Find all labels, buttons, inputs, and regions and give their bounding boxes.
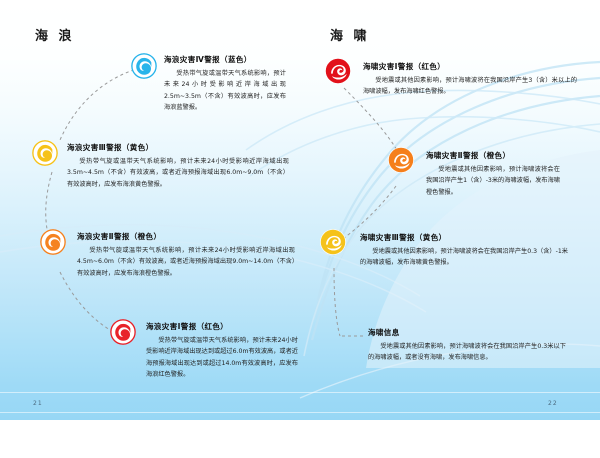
- page-bottom-margin: [0, 420, 600, 458]
- footer-rule-top: [0, 392, 600, 393]
- warning-description: 受热带气旋或温带天气系统影响，预计未来24小时受影响近岸海域出现3.5m~4.5…: [67, 156, 289, 190]
- tsunami-wave-icon-orange: [388, 147, 414, 173]
- section-heading-tsunami: 海 啸: [330, 25, 370, 44]
- warning-title: 海浪灾害Ⅳ警报（蓝色）: [164, 54, 286, 65]
- warning-title: 海啸灾害Ⅱ警报（橙色）: [426, 150, 560, 161]
- wave-spiral-icon-blue: [131, 53, 157, 79]
- warning-description: 受地震或其他因素影响，预计海啸波将会在我国沿岸产生0.3（含）-1米的海啸波幅，…: [360, 246, 568, 269]
- tsunami-wave-icon-yellow: [320, 229, 346, 255]
- warning-title: 海啸灾害Ⅲ警报（黄色）: [360, 232, 568, 243]
- warning-description: 受热带气旋或温带天气系统影响，预计未来24小时受影响近岸海域出现达到或超过6.0…: [146, 335, 298, 381]
- warning-title: 海浪灾害Ⅱ警报（橙色）: [77, 231, 295, 242]
- footer-rule-bottom: [0, 412, 600, 413]
- warning-description: 受地震或其他因素影响，预计海啸波将在我国沿岸产生3（含）米以上的海啸波幅，发布海…: [363, 75, 577, 98]
- section-heading-wave: 海 浪: [35, 25, 75, 44]
- page-number-right: 22: [548, 400, 558, 407]
- warning-title: 海浪灾害Ⅲ警报（黄色）: [67, 142, 289, 153]
- page-number-left: 21: [33, 400, 43, 407]
- tsunami-wave-icon-red: [325, 58, 351, 84]
- warning-description: 受地震或其他因素影响，预计海啸波将会在我国沿岸产生0.3米以下的海啸波幅，或者没…: [368, 341, 566, 364]
- wave-spiral-icon-red: [110, 319, 136, 345]
- warning-description: 受热带气旋或温带天气系统影响，预计未来24小时受影响近岸海域出现2.5m~3.5…: [164, 68, 286, 114]
- warning-title: 海浪灾害Ⅰ警报（红色）: [146, 321, 298, 332]
- warning-description: 受地震或其他因素影响，预计海啸波将会在我国沿岸产生1（含）-3米的海啸波幅，发布…: [426, 164, 560, 198]
- wave-spiral-icon-yellow: [32, 140, 58, 166]
- slide-page: 海 浪 海 啸 海浪灾害Ⅳ警报（蓝色） 受热带气旋或温带天气系统影响，预计未来2…: [0, 0, 600, 458]
- warning-description: 受热带气旋或温带天气系统影响，预计未来24小时受影响近岸海域出现4.5m~6.0…: [77, 245, 295, 279]
- warning-title: 海啸信息: [368, 327, 566, 338]
- wave-spiral-icon-orange: [40, 229, 66, 255]
- warning-title: 海啸灾害Ⅰ警报（红色）: [363, 61, 577, 72]
